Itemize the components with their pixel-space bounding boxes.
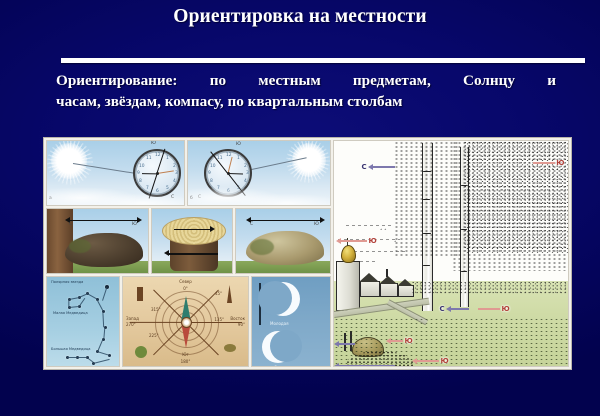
label-south-left: Ю — [151, 141, 156, 146]
label-south-moss-tree: Ю — [132, 222, 137, 227]
compass-label-north-deg: 0° — [183, 286, 188, 291]
left-illustration-column: 12 1 2 3 4 5 6 7 8 9 10 11 — [46, 140, 331, 367]
arrow-bar — [391, 340, 403, 342]
arrow-head-right-2 — [320, 217, 325, 223]
direction-arrow-left-low — [334, 341, 355, 347]
moss-patch-2 — [250, 239, 274, 255]
star-link — [87, 357, 94, 362]
cloud-line — [354, 251, 408, 252]
ring-arrow-line — [174, 229, 212, 230]
label-polaris: Полярная звезда — [51, 280, 83, 284]
panel-moon-phases: Молодая Старая — [251, 276, 331, 367]
house-roof — [359, 273, 379, 282]
star-link — [87, 293, 97, 299]
compass-azimuth-135: 135° — [214, 317, 224, 322]
moon-label-waning: Старая — [274, 365, 289, 367]
house-roof — [379, 276, 397, 284]
title-divider — [61, 58, 585, 63]
panel-sun-watch-left: 12 1 2 3 4 5 6 7 8 9 10 11 — [46, 140, 185, 206]
village-house — [360, 281, 380, 297]
birds-icon: ˄ ˄ — [380, 229, 387, 235]
panel-moss-tree: С Ю — [46, 208, 149, 274]
birds-icon: ˄ — [394, 241, 397, 247]
church-body — [336, 261, 360, 311]
sun-rays-icon-2 — [286, 140, 330, 183]
watch-hour-hand-2 — [228, 173, 243, 175]
page-title: Ориентировка на местности — [0, 6, 600, 28]
direction-label-south-anthill: Ю — [386, 337, 414, 345]
compass-label-west-deg: 270° — [126, 322, 136, 327]
star-link — [79, 293, 88, 297]
house-roof — [397, 279, 413, 286]
birch-mark — [461, 271, 467, 272]
star-link — [67, 357, 77, 358]
sun-watch-row: 12 1 2 3 4 5 6 7 8 9 10 11 — [46, 140, 331, 206]
label-north-right: С — [198, 195, 201, 200]
direction-arrow-line — [69, 220, 139, 221]
illustration-board: 12 1 2 3 4 5 6 7 8 9 10 11 — [43, 137, 572, 370]
label-north-moss-stone: С — [250, 222, 253, 227]
arrow-head-right — [137, 217, 142, 223]
direction-label-south-church: Ю — [336, 237, 378, 245]
tree-icon — [135, 346, 147, 358]
panel-mark-a: а — [49, 196, 52, 201]
stump-rings — [162, 217, 226, 245]
moon-label-waxing: Молодая — [270, 321, 289, 326]
subtitle-line-2: часам, звёздам, компасу, по квартальным … — [56, 91, 556, 112]
panel-sun-watch-right: 12 1 2 3 4 5 6 7 8 9 10 11 — [187, 140, 331, 206]
ring-arrow-head — [210, 226, 215, 232]
compass-azimuth-225: 225° — [149, 333, 159, 338]
label-north-moss-tree: С — [69, 222, 72, 227]
stars-compass-moon-row: Полярная звезда Малая Медведица Большая … — [46, 276, 331, 367]
sun-rays-icon — [47, 140, 93, 185]
moon-waning-shadow — [270, 330, 302, 362]
analog-watch-2: 12 1 2 3 4 5 6 7 8 9 10 11 — [204, 149, 252, 197]
watch-bisector-line-2 — [148, 173, 157, 198]
watch-bisector-line-4 — [227, 173, 245, 196]
direction-text: Ю — [555, 159, 566, 167]
compass-label-south-deg: 180° — [181, 359, 191, 364]
compass-ray-west — [130, 322, 186, 323]
local-objects-row: С Ю — [46, 208, 331, 274]
direction-text: С — [360, 163, 368, 171]
label-ursa-major: Большая Медведица — [51, 347, 90, 351]
direction-text: С — [438, 305, 446, 313]
arrow-bar — [339, 365, 395, 367]
village-house — [380, 283, 398, 297]
panel-stump-rings — [151, 208, 233, 274]
compass-label-east-deg: 90° — [238, 322, 245, 327]
panel-engraving-landscape: ˄ ˄ ˄ — [333, 140, 569, 367]
arrow-bar — [417, 360, 439, 362]
church-dome — [341, 245, 356, 263]
panel-compass-rose: Север 0° Юг 180° Запад 270° Восток 90° 4… — [122, 276, 249, 367]
subtitle-text: Ориентирование: по местным предметам, Со… — [56, 70, 556, 112]
bush-icon — [224, 344, 236, 352]
direction-arrow-line-2 — [250, 220, 322, 221]
label-ursa-minor: Малая Медведица — [53, 311, 88, 315]
compass-label-west: Запад — [126, 316, 139, 321]
star-link — [97, 351, 110, 355]
tower-icon — [227, 285, 232, 303]
star-link — [79, 298, 85, 307]
star-link — [98, 339, 104, 351]
moss-patch — [69, 239, 91, 253]
arrow-bar — [341, 240, 367, 242]
compass-hub — [181, 317, 192, 328]
compass-azimuth-45: 45° — [215, 291, 222, 296]
watch-axle — [156, 172, 159, 175]
compass-azimuth-315: 315° — [151, 307, 161, 312]
stump-arrow-head-left — [164, 250, 169, 256]
direction-label-south-canopy: Ю — [533, 159, 566, 167]
label-north-left: С — [171, 195, 174, 200]
hedgerow — [412, 281, 569, 295]
lighthouse-icon — [137, 287, 143, 301]
label-south-moss-stone: Ю — [314, 222, 319, 227]
direction-label-north-canopy: С — [360, 163, 395, 171]
watch-minute-hand-2 — [228, 157, 233, 174]
birch-foliage-dense — [464, 141, 569, 253]
arrow-bar — [533, 162, 555, 164]
direction-text: Ю — [500, 305, 511, 313]
watch-axle-2 — [227, 172, 230, 175]
panel-mark-b: б — [190, 196, 193, 201]
panel-moss-stone: С Ю — [235, 208, 331, 274]
compass-label-south: Юг — [182, 352, 188, 357]
arrow-bar — [373, 166, 395, 168]
birch-canopy-left — [394, 141, 460, 257]
direction-text: Ю — [439, 357, 450, 365]
birch-mark — [423, 265, 430, 266]
direction-text: Ю — [403, 337, 414, 345]
direction-arrow-left-lower — [334, 363, 395, 367]
direction-label-south-trunk: Ю — [478, 305, 511, 313]
compass-label-east: Восток — [230, 316, 245, 321]
arrow-bar — [478, 308, 500, 310]
direction-label-south-slope: Ю — [412, 357, 450, 365]
star-link — [102, 287, 107, 301]
star-link — [103, 311, 105, 327]
panel-star-chart: Полярная звезда Малая Медведица Большая … — [46, 276, 120, 367]
direction-text: Ю — [367, 237, 378, 245]
star-link — [93, 359, 110, 364]
watch-hour-hand — [142, 173, 157, 175]
analog-watch: 12 1 2 3 4 5 6 7 8 9 10 11 — [133, 149, 181, 197]
grass-texture — [334, 317, 569, 367]
compass-label-north: Север — [179, 279, 192, 284]
star-link — [97, 299, 104, 311]
subtitle-line-1: Ориентирование: по местным предметам, Со… — [56, 70, 556, 91]
chimney — [386, 269, 388, 277]
direction-label-north-trunk: С — [438, 305, 469, 313]
cloud-line — [346, 225, 392, 226]
watch-minute-hand — [157, 170, 174, 174]
stump-arrow-line — [168, 253, 218, 255]
arrow-bar — [451, 308, 469, 310]
presentation-slide: Ориентировка на местности Ориентирование… — [0, 0, 600, 416]
label-south-right: Ю — [236, 142, 241, 147]
arrow-bar — [339, 343, 355, 345]
moon-waxing-shadow — [258, 281, 292, 315]
